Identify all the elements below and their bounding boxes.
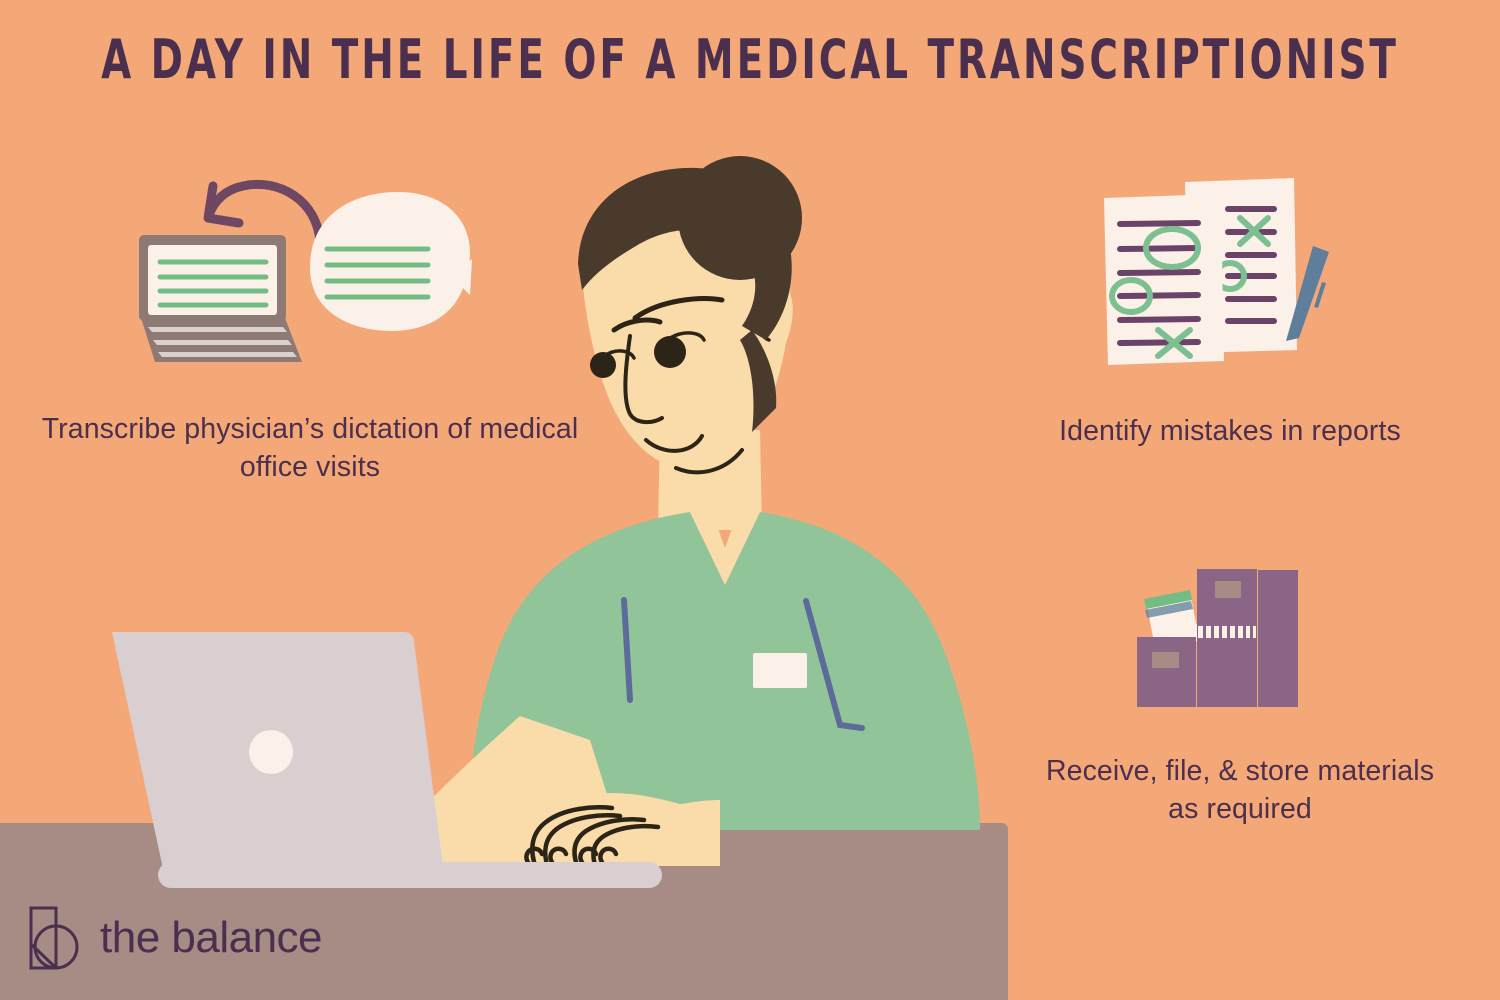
brand-logo[interactable]: the balance <box>28 905 322 971</box>
caption-transcribe: Transcribe physician’s dictation of medi… <box>20 410 600 486</box>
page-title: A DAY IN THE LIFE OF A MEDICAL TRANSCRIP… <box>60 28 1440 92</box>
balance-logo-mark <box>28 905 84 971</box>
brand-name: the balance <box>100 916 322 960</box>
infographic-canvas: A DAY IN THE LIFE OF A MEDICAL TRANSCRIP… <box>0 0 1500 1000</box>
caption-identify: Identify mistakes in reports <box>1000 412 1460 450</box>
caption-receive: Receive, file, & store materials as requ… <box>1040 752 1440 828</box>
